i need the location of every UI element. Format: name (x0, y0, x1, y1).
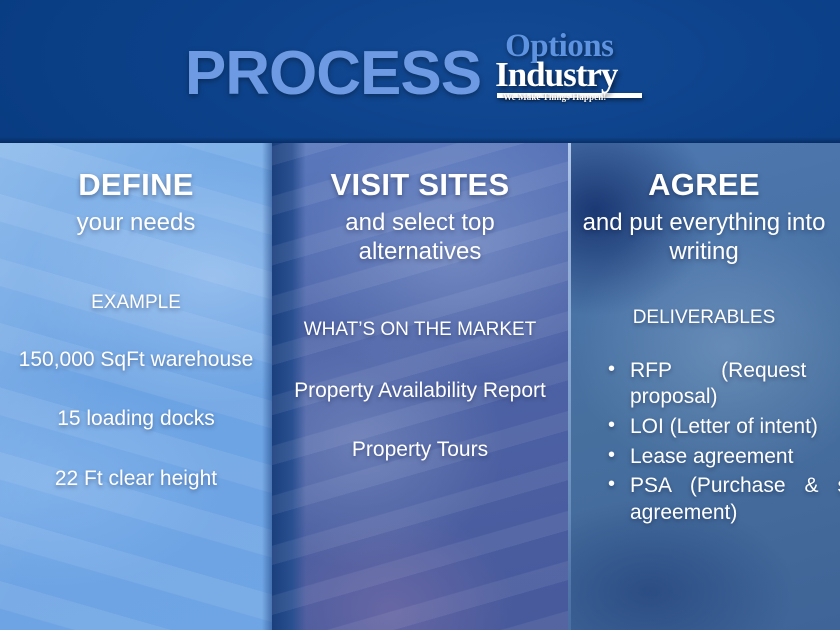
list-item: 150,000 SqFt warehouse (14, 347, 258, 373)
header-banner: PROCESS Options Industry We Make Things … (0, 0, 840, 143)
column-agree-section-label: DELIVERABLES (582, 306, 826, 330)
list-item: 15 loading docks (14, 406, 258, 432)
list-item: 22 Ft clear height (14, 466, 258, 492)
column-visit-sites-section-label: WHAT’S ON THE MARKET (286, 318, 554, 342)
bullet-rfp-word-1: RFP (630, 358, 672, 385)
column-agree-title: AGREE (582, 169, 826, 202)
bullet-rfp-word-2: (Request (721, 358, 806, 385)
column-agree-content: AGREE and put everything into writing DE… (568, 143, 840, 527)
column-agree-subtitle: and put everything into writing (582, 208, 826, 267)
bullet-item-psa: PSA (Purchase & sale agreement) (604, 473, 840, 526)
column-visit-sites-subtitle: and select top alternatives (286, 208, 554, 267)
logo-word-industry: Industry (495, 57, 642, 92)
page-title: PROCESS (185, 43, 481, 105)
bullet-item-loi: LOI (Letter of intent) (604, 414, 826, 441)
logo-tagline: We Make Things Happen! (503, 92, 606, 102)
bullet-item-rfp: RFP (Request for proposal) (604, 358, 840, 411)
column-define-items: 150,000 SqFt warehouse 15 loading docks … (14, 347, 258, 492)
column-define-title: DEFINE (14, 169, 258, 202)
column-define-content: DEFINE your needs EXAMPLE 150,000 SqFt w… (0, 143, 272, 491)
column-define-subtitle: your needs (14, 208, 258, 237)
column-visit-sites-items: Property Availability Report Property To… (286, 378, 554, 463)
column-agree: AGREE and put everything into writing DE… (568, 143, 840, 630)
bullet-rfp-line1: RFP (Request for (630, 358, 840, 385)
brand-logo: Options Industry We Make Things Happen! (495, 30, 655, 110)
column-define-section-label: EXAMPLE (14, 291, 258, 315)
column-visit-sites-title: VISIT SITES (286, 169, 554, 202)
bullet-rfp-line2: proposal) (630, 384, 840, 411)
process-columns: DEFINE your needs EXAMPLE 150,000 SqFt w… (0, 143, 840, 630)
list-item: Property Tours (286, 437, 554, 463)
column-agree-bullets: RFP (Request for proposal) LOI (Letter o… (582, 358, 826, 527)
bullet-item-lease: Lease agreement (604, 444, 826, 471)
list-item: Property Availability Report (286, 378, 554, 404)
column-visit-sites-content: VISIT SITES and select top alternatives … (272, 143, 568, 463)
column-visit-sites: VISIT SITES and select top alternatives … (272, 143, 568, 630)
column-define: DEFINE your needs EXAMPLE 150,000 SqFt w… (0, 143, 272, 630)
header-inner: PROCESS Options Industry We Make Things … (0, 0, 840, 143)
